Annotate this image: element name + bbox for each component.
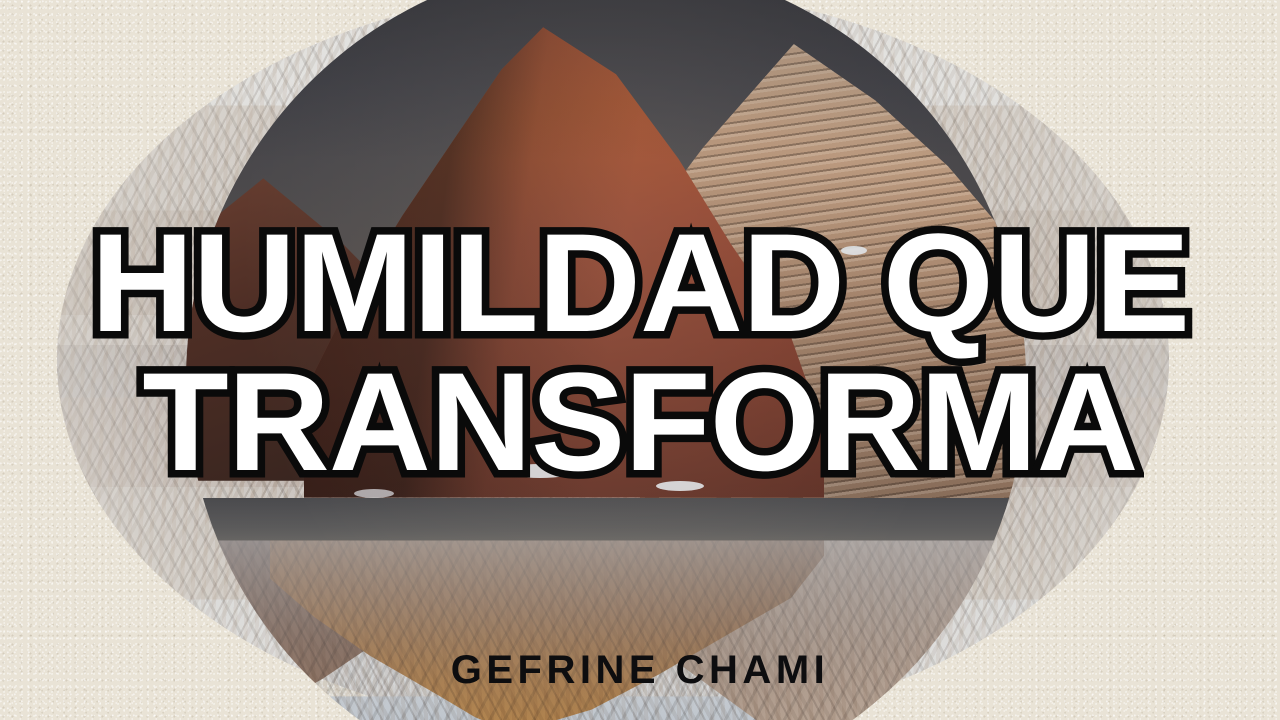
- title-card: HUMILDAD QUE TRANSFORMA GEFRINE CHAMI: [0, 0, 1280, 720]
- title-line-2: TRANSFORMA: [0, 353, 1280, 492]
- title-line-1: HUMILDAD QUE: [0, 214, 1280, 353]
- author-name: GEFRINE CHAMI: [0, 648, 1280, 693]
- title-block: HUMILDAD QUE TRANSFORMA: [0, 214, 1280, 491]
